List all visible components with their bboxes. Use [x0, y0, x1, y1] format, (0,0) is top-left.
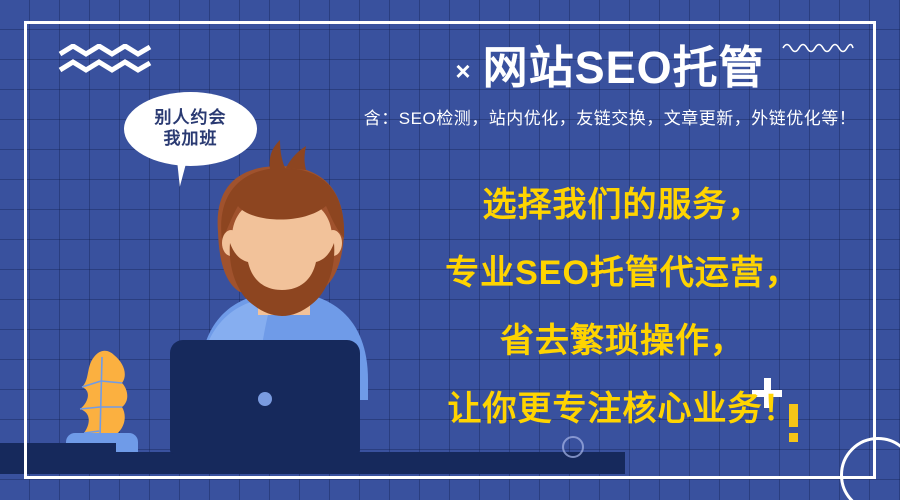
- page-title: 网站SEO托管: [483, 44, 765, 91]
- desk-surface: [0, 452, 625, 474]
- page-subtitle: 含：SEO检测，站内优化，友链交换，文章更新，外链优化等！: [330, 104, 890, 129]
- speech-bubble-line-2: 我加班: [164, 129, 218, 150]
- laptop-icon: [170, 340, 360, 454]
- title-row: × 网站SEO托管: [330, 44, 890, 91]
- speech-bubble-line-1: 别人约会: [155, 108, 227, 129]
- circle-outline-icon: [840, 437, 900, 500]
- copy-line-2: 专业SEO托管代运营，: [410, 256, 835, 290]
- laptop-logo-dot: [258, 392, 272, 406]
- copy-line-1: 选择我们的服务，: [410, 188, 835, 222]
- copy-line-3: 省去繁琐操作，: [410, 324, 835, 358]
- copy-line-4: 让你更专注核心业务！: [410, 392, 835, 426]
- marketing-copy-block: 选择我们的服务， 专业SEO托管代运营， 省去繁琐操作， 让你更专注核心业务！: [410, 188, 835, 426]
- close-icon: ×: [455, 58, 470, 84]
- speech-bubble: 别人约会 我加班: [124, 92, 257, 166]
- seo-hosting-banner: 别人约会 我加班 × 网站SEO托管 含：SEO检测，站内优化，友链交换，文章更…: [0, 0, 900, 500]
- headline-block: × 网站SEO托管 含：SEO检测，站内优化，友链交换，文章更新，外链优化等！: [330, 44, 890, 129]
- double-zigzag-wave-icon: [58, 44, 152, 74]
